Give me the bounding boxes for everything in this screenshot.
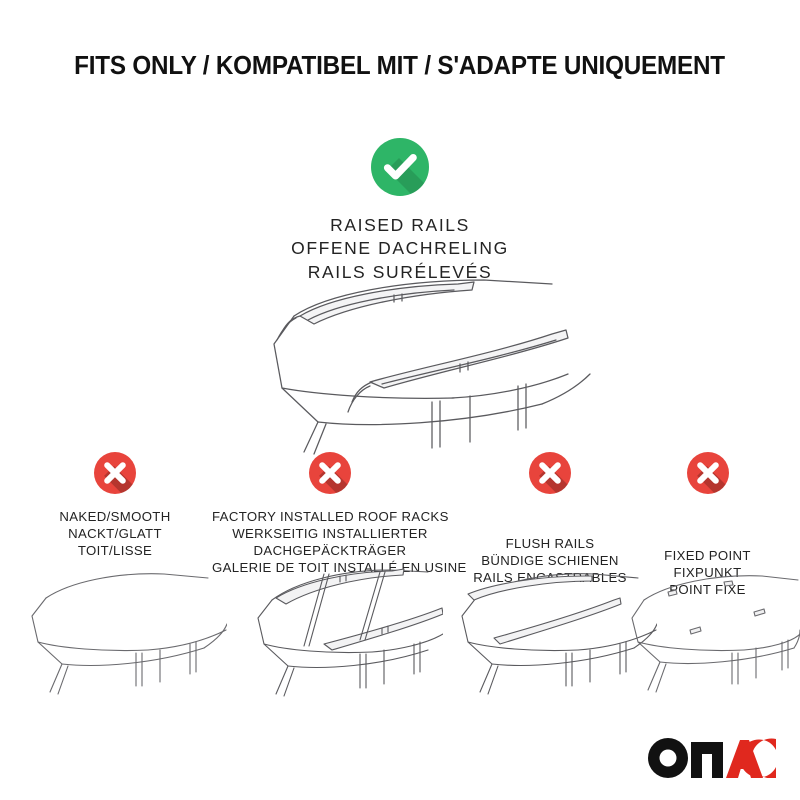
- x-circle-icon: [94, 452, 136, 494]
- label-naked-smooth-de: NACKT/GLATT: [20, 525, 210, 542]
- label-naked-smooth-en: NAKED/SMOOTH: [20, 508, 210, 525]
- x-circle-icon: [529, 452, 571, 494]
- x-circle-icon: [687, 452, 729, 494]
- car-roof-bare-illustration: [12, 558, 227, 723]
- compatible-label-de: OFFENE DACHRELING: [0, 237, 800, 260]
- incompatible-item-naked-smooth: NAKED/SMOOTH NACKT/GLATT TOIT/LISSE: [20, 452, 210, 559]
- incompatible-labels-naked-smooth: NAKED/SMOOTH NACKT/GLATT TOIT/LISSE: [20, 508, 210, 559]
- omac-letter-m: [691, 742, 723, 778]
- x-circle-icon: [309, 452, 351, 494]
- omac-logo: [648, 738, 776, 778]
- label-flush-rails-en: FLUSH RAILS: [455, 535, 645, 552]
- label-factory-roof-racks-en: FACTORY INSTALLED ROOF RACKS: [212, 508, 448, 525]
- label-naked-smooth-fr: TOIT/LISSE: [20, 542, 210, 559]
- car-roof-fixed-point-illustration: [620, 556, 800, 721]
- label-factory-roof-racks-de1: WERKSEITIG INSTALLIERTER: [212, 525, 448, 542]
- car-roof-raised-rails-illustration: [222, 272, 592, 457]
- page-title-bar: FITS ONLY / KOMPATIBEL MIT / S'ADAPTE UN…: [0, 52, 800, 81]
- check-circle-icon: [371, 138, 429, 196]
- page-title: FITS ONLY / KOMPATIBEL MIT / S'ADAPTE UN…: [75, 52, 726, 81]
- omac-letter-o: [648, 738, 688, 778]
- car-roof-with-crossbars-illustration: [228, 548, 443, 713]
- compatible-label-en: RAISED RAILS: [0, 214, 800, 237]
- compatible-section: RAISED RAILS OFFENE DACHRELING RAILS SUR…: [0, 138, 800, 284]
